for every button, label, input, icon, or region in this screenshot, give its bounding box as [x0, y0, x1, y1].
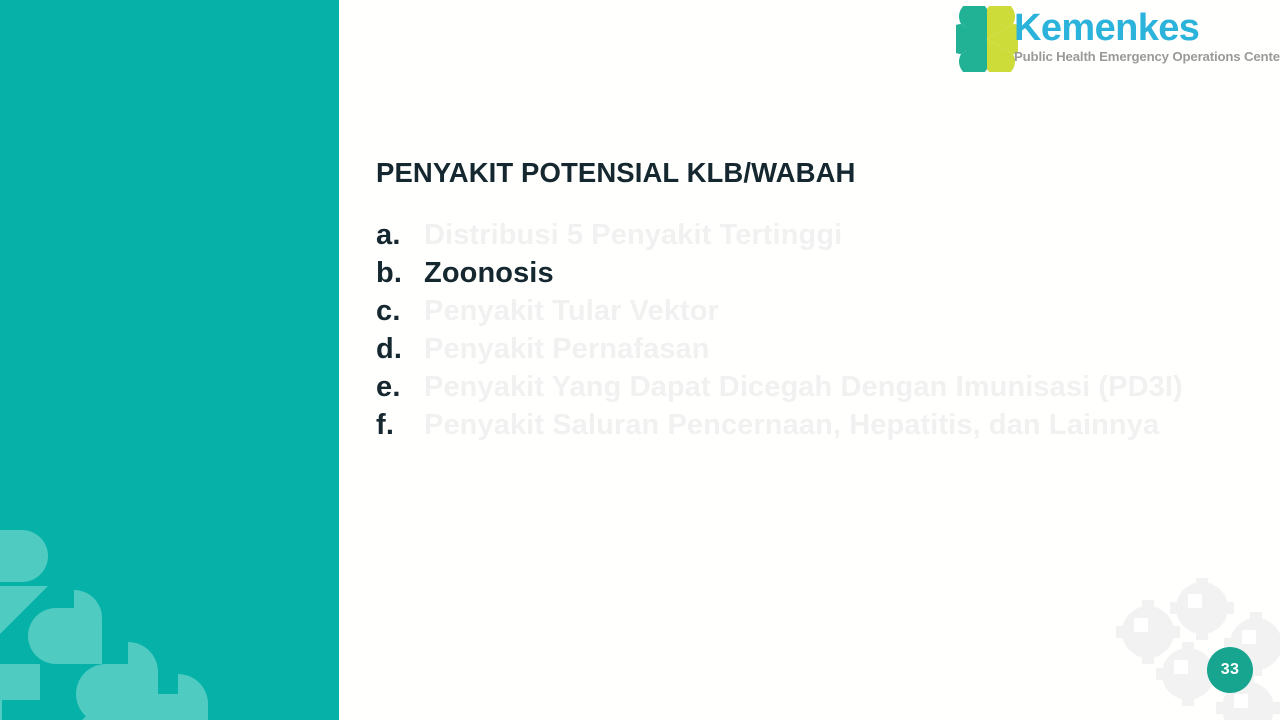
logo-wordmark: Kemenkes Public Health Emergency Operati…: [1014, 8, 1280, 65]
slide-content: PENYAKIT POTENSIAL KLB/WABAH a.Distribus…: [376, 156, 1236, 444]
list-item-text: Penyakit Yang Dapat Dicegah Dengan Imuni…: [424, 368, 1214, 406]
kemenkes-petal-mark-icon: [956, 6, 1018, 72]
list-item-text: Penyakit Tular Vektor: [424, 292, 1214, 330]
list-item-marker: c.: [376, 292, 424, 330]
list-item: d.Penyakit Pernafasan: [376, 330, 1236, 368]
logo-title: Kemenkes: [1014, 8, 1280, 48]
list-item-text: Penyakit Pernafasan: [424, 330, 1214, 368]
list-item: f.Penyakit Saluran Pencernaan, Hepatitis…: [376, 406, 1236, 444]
list-item: c.Penyakit Tular Vektor: [376, 292, 1236, 330]
list-item-marker: f.: [376, 406, 424, 444]
list-item: b.Zoonosis: [376, 254, 1236, 292]
logo-subtitle: Public Health Emergency Operations Cente…: [1014, 49, 1280, 65]
kemenkes-logo: Kemenkes Public Health Emergency Operati…: [956, 6, 1274, 72]
list-item: a.Distribusi 5 Penyakit Tertinggi: [376, 216, 1236, 254]
list-item-text: Distribusi 5 Penyakit Tertinggi: [424, 216, 1214, 254]
list-item-marker: b.: [376, 254, 424, 292]
corner-ornament: [1104, 578, 1280, 720]
left-accent-panel: [0, 0, 339, 720]
list-item-marker: e.: [376, 368, 424, 406]
panel-leaf-pattern: [0, 524, 212, 720]
page-title: PENYAKIT POTENSIAL KLB/WABAH: [376, 156, 1236, 190]
list-item-marker: a.: [376, 216, 424, 254]
outline-list: a.Distribusi 5 Penyakit Tertinggib.Zoono…: [376, 216, 1236, 444]
page-number-label: 33: [1221, 661, 1239, 679]
slide-canvas: Kemenkes Public Health Emergency Operati…: [0, 0, 1280, 720]
list-item-text: Penyakit Saluran Pencernaan, Hepatitis, …: [424, 406, 1214, 444]
list-item: e.Penyakit Yang Dapat Dicegah Dengan Imu…: [376, 368, 1236, 406]
list-item-text: Zoonosis: [424, 254, 1214, 292]
page-number-badge: 33: [1207, 647, 1253, 693]
list-item-marker: d.: [376, 330, 424, 368]
